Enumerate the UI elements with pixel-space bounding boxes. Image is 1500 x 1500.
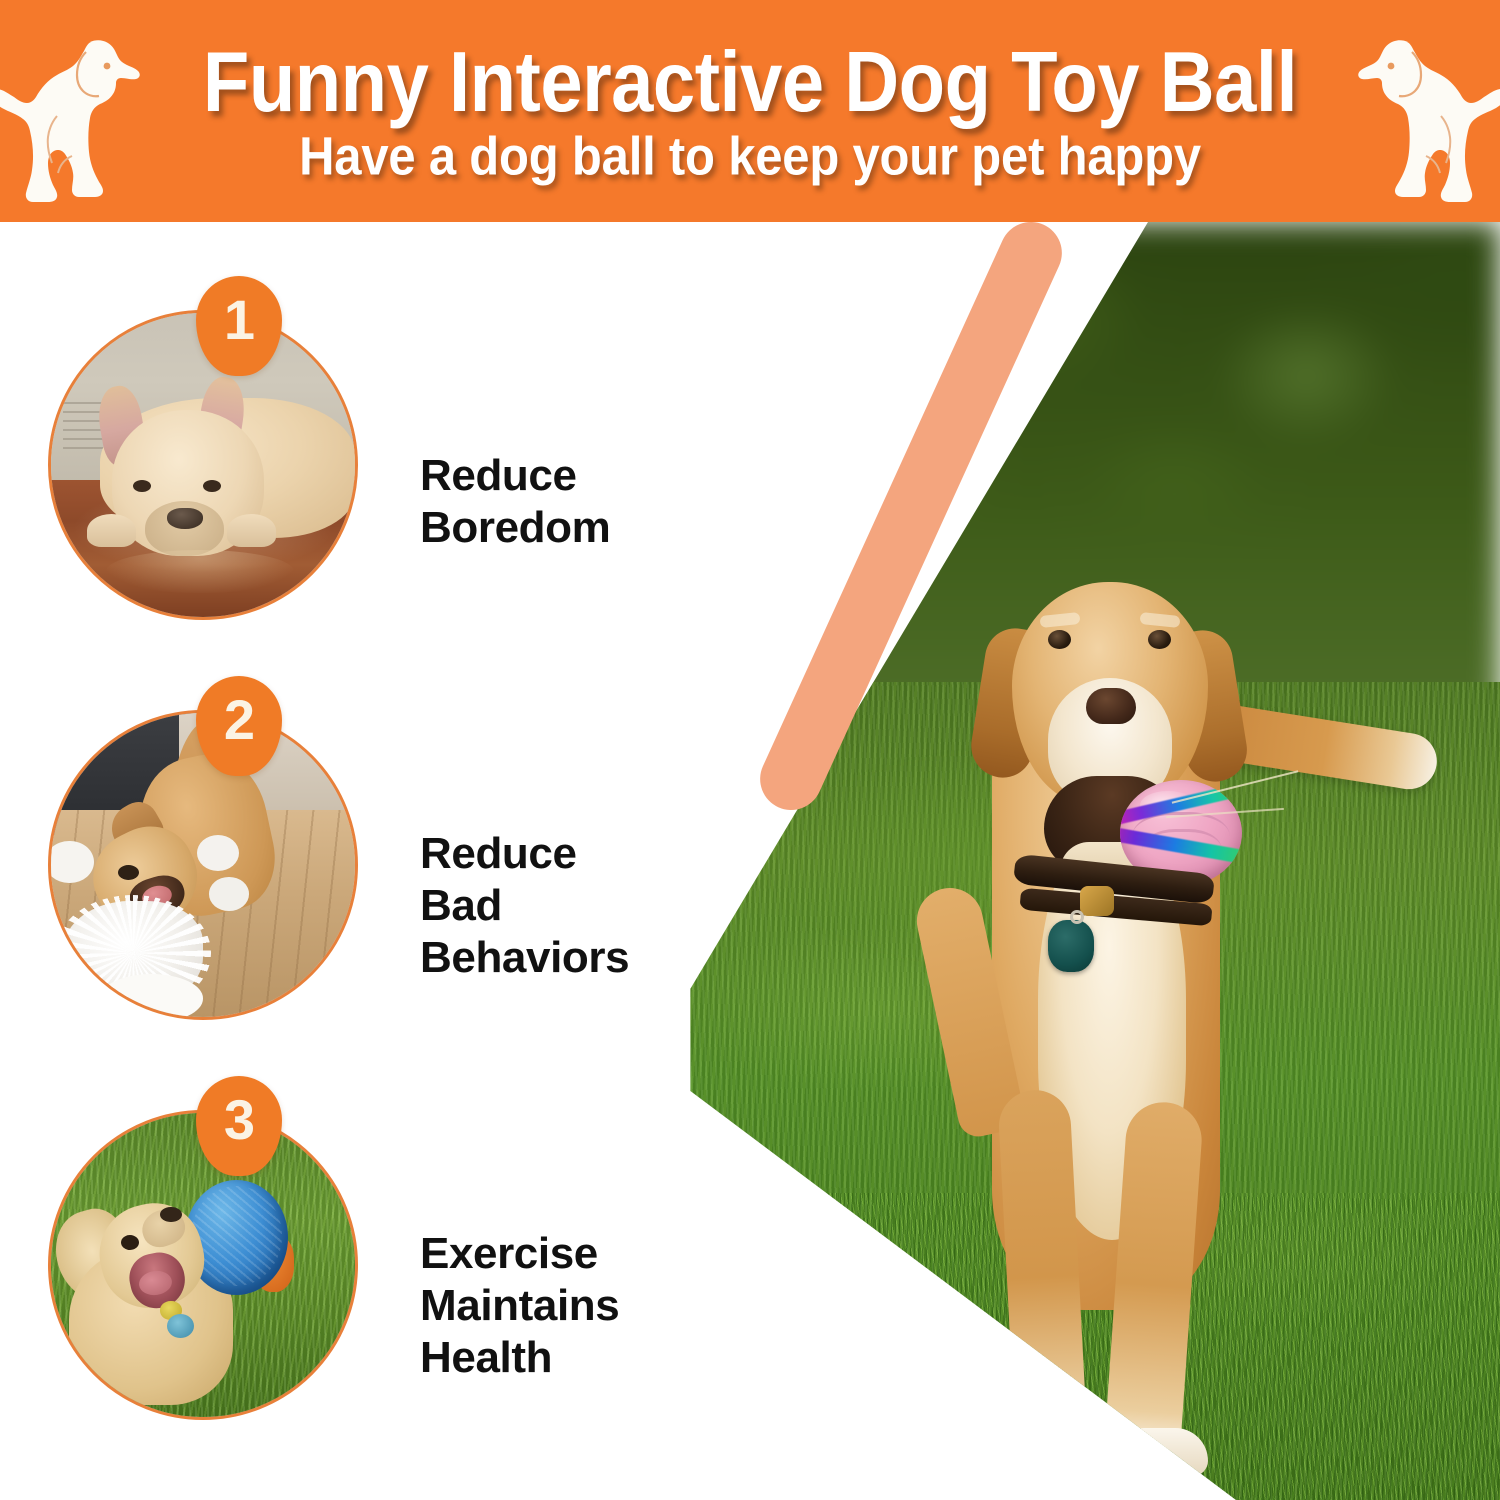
page-title: Funny Interactive Dog Toy Ball xyxy=(203,40,1297,125)
p3-dog-eye xyxy=(121,1235,139,1250)
feature-1-number: 1 xyxy=(224,292,254,348)
p1-dog-paw-left xyxy=(87,514,136,547)
hero-product-photo xyxy=(620,222,1500,1500)
feature-3-photo xyxy=(48,1110,358,1420)
feature-3-label: Exercise Maintains Health xyxy=(420,1228,619,1384)
sitting-dog-silhouette-right-icon xyxy=(1354,24,1500,204)
dog-eye-left xyxy=(1048,630,1071,649)
running-dog xyxy=(920,490,1370,1500)
feature-1-photo xyxy=(48,310,358,620)
collar-buckle xyxy=(1080,886,1114,916)
p1-floor-reflection xyxy=(106,550,294,593)
p2-stuffing-piece-4 xyxy=(209,877,249,910)
dog-nose xyxy=(1086,688,1136,724)
dog-eye-right xyxy=(1148,630,1171,649)
feature-3-number-badge: 3 xyxy=(196,1076,282,1176)
feature-2-number-badge: 2 xyxy=(196,676,282,776)
feature-2-number: 2 xyxy=(224,692,254,748)
dog-paw-left xyxy=(998,1406,1090,1452)
feature-2-photo xyxy=(48,710,358,1020)
collar-id-tag xyxy=(1048,920,1094,972)
header-banner: Funny Interactive Dog Toy Ball Have a do… xyxy=(0,0,1500,222)
p3-ball-texture xyxy=(191,1186,282,1286)
p3-collar-tag-blue xyxy=(167,1314,194,1338)
collar-tag-ring xyxy=(1070,910,1084,924)
p1-dog-nose xyxy=(167,508,203,529)
p2-stuffing-piece-2 xyxy=(48,841,94,884)
header-text-group: Funny Interactive Dog Toy Ball Have a do… xyxy=(0,0,1500,222)
hero-photo-scene xyxy=(620,222,1500,1500)
feature-3-number: 3 xyxy=(224,1092,254,1148)
p1-dog-paw-right xyxy=(227,514,276,547)
feature-1-number-badge: 1 xyxy=(196,276,282,376)
dog-paw-right xyxy=(1112,1428,1208,1476)
feature-1-label: Reduce Boredom xyxy=(420,450,610,554)
feature-2-label: Reduce Bad Behaviors xyxy=(420,828,629,984)
page-subtitle: Have a dog ball to keep your pet happy xyxy=(299,130,1201,184)
p2-stuffing-piece-5 xyxy=(100,974,203,1020)
